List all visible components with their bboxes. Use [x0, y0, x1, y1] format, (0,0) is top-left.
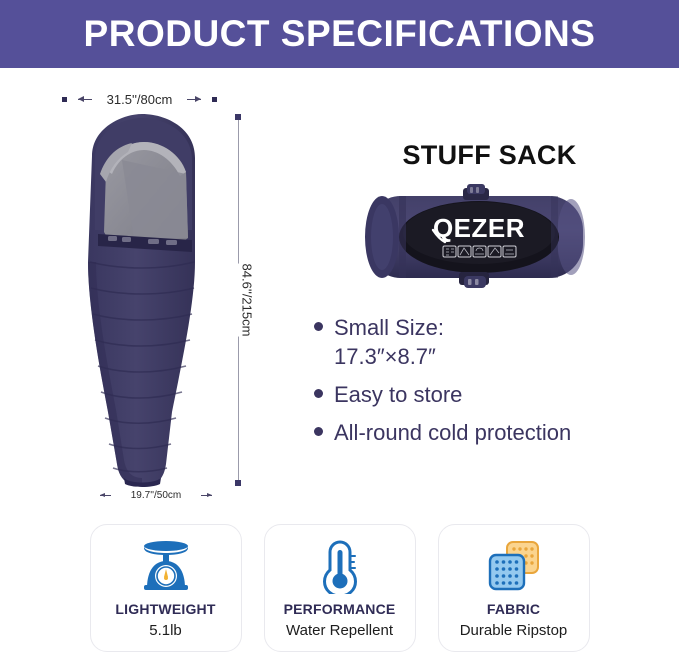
product-specifications-page: PRODUCT SPECIFICATIONS 31.5''/80cm [0, 0, 679, 666]
kitchen-scale-icon [135, 538, 197, 594]
thermometer-icon [309, 538, 371, 594]
bullet-dot-icon [314, 389, 323, 398]
feature-card-row: LIGHTWEIGHT 5.1lb PERFORMANCE Water Repe… [0, 524, 679, 666]
bullet-dot-icon [314, 322, 323, 331]
list-item: All-round cold protection [314, 418, 679, 447]
arrow-left-icon [100, 495, 111, 496]
ripstop-fabric-icon [483, 538, 545, 594]
bullet-label: All-round cold protection [334, 418, 571, 447]
arrow-right-icon [187, 99, 201, 100]
page-title: PRODUCT SPECIFICATIONS [84, 13, 596, 55]
dimension-top-width: 31.5''/80cm [62, 90, 217, 108]
arrow-left-icon [78, 99, 92, 100]
feature-card-fabric: FABRIC Durable Ripstop [438, 524, 590, 652]
feature-card-value: 5.1lb [149, 622, 182, 639]
feature-card-value: Durable Ripstop [460, 622, 568, 639]
stuff-sack-panel: STUFF SACK [300, 68, 679, 518]
sleeping-bag-image [62, 112, 222, 490]
feature-card-title: PERFORMANCE [284, 601, 396, 617]
svg-text:QEZER: QEZER [433, 213, 525, 243]
dimension-bottom-width-label: 19.7''/50cm [131, 490, 182, 501]
dimension-top-width-label: 31.5''/80cm [104, 92, 176, 107]
stuff-sack-title: STUFF SACK [300, 140, 679, 171]
feature-card-title: LIGHTWEIGHT [115, 601, 215, 617]
dimension-height: 84.6''/215cm [232, 114, 262, 486]
arrow-right-icon [201, 495, 212, 496]
sleeping-bag-panel: 31.5''/80cm [0, 68, 300, 518]
page-header-banner: PRODUCT SPECIFICATIONS [0, 0, 679, 68]
bullet-label: Small Size: 17.3″×8.7″ [334, 313, 444, 371]
bullet-dot-icon [314, 427, 323, 436]
list-item: Small Size: 17.3″×8.7″ [314, 313, 679, 371]
feature-card-title: FABRIC [487, 601, 540, 617]
stuff-sack-image: QEZER [355, 184, 595, 289]
feature-card-value: Water Repellent [286, 622, 393, 639]
dimension-endpoint-right [212, 97, 217, 102]
stuff-sack-bullet-list: Small Size: 17.3″×8.7″ Easy to store All… [314, 313, 679, 456]
dimension-bottom-width: 19.7''/50cm [100, 488, 212, 502]
dimension-endpoint-left [62, 97, 67, 102]
dimension-endpoint-bottom [235, 480, 241, 486]
list-item: Easy to store [314, 380, 679, 409]
dimension-height-label: 84.6''/215cm [238, 264, 257, 337]
feature-card-performance: PERFORMANCE Water Repellent [264, 524, 416, 652]
bullet-label: Easy to store [334, 380, 462, 409]
feature-card-lightweight: LIGHTWEIGHT 5.1lb [90, 524, 242, 652]
